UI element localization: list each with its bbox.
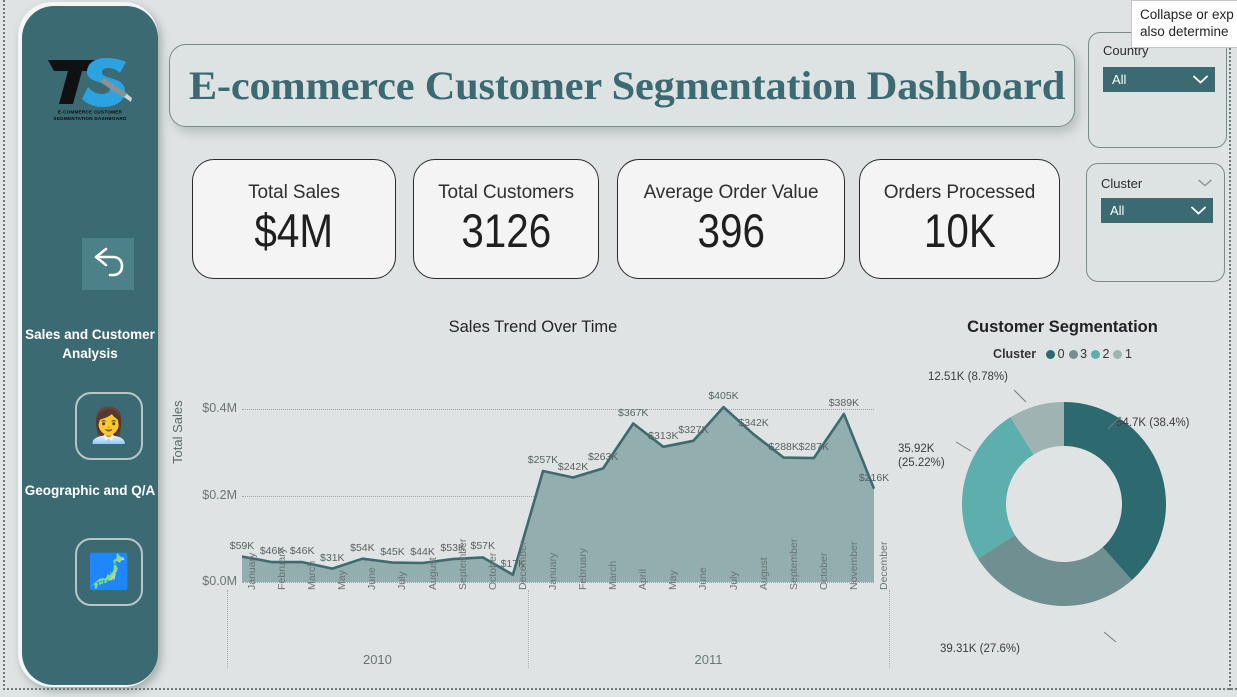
x-axis-tick: July	[396, 571, 408, 590]
chevron-down-icon[interactable]	[1198, 174, 1212, 192]
x-axis-tick: October	[487, 553, 499, 590]
slicer-header: Cluster	[1101, 174, 1212, 192]
tooltip-popup: Collapse or exp also determine	[1131, 0, 1237, 48]
slicer-title: Cluster	[1101, 176, 1142, 191]
data-label: $59K	[230, 540, 255, 552]
back-arrow-icon	[91, 246, 125, 283]
legend-color-swatch	[1069, 350, 1078, 359]
sidebar-item-sales-and-customer-analysis[interactable]: 👩‍💼	[75, 392, 143, 460]
data-label: $257K	[528, 454, 558, 466]
kpi-value: 396	[697, 206, 764, 255]
page-border-right	[1229, 0, 1231, 690]
page-border-left	[3, 0, 5, 690]
logo-subtitle: E-COMMERCE CUSTOMER SEGMENTATION DASHBOA…	[23, 109, 158, 123]
kpi-label: Total Customers	[438, 182, 574, 204]
kpi-value: 3126	[461, 206, 551, 255]
chart-title-customer-segmentation: Customer Segmentation	[896, 318, 1229, 337]
donut-data-label-cluster-3: 39.31K (27.6%)	[940, 642, 1020, 656]
donut-data-label-cluster-0: 54.7K (38.4%)	[1116, 416, 1190, 430]
sidebar-item-geographic-and-qa[interactable]: 🗾	[75, 538, 143, 606]
kpi-card-total-sales[interactable]: Total Sales $4M	[192, 159, 396, 279]
kpi-card-total-customers[interactable]: Total Customers 3126	[413, 159, 599, 279]
app-logo: E-COMMERCE CUSTOMER SEGMENTATION DASHBOA…	[22, 54, 158, 121]
dashboard-page: E-COMMERCE CUSTOMER SEGMENTATION DASHBOA…	[0, 0, 1237, 697]
country-selected-value: All	[1112, 72, 1126, 87]
x-axis-tick: December	[878, 542, 890, 590]
x-axis-tick: June	[366, 567, 378, 590]
axis-separator	[889, 590, 890, 668]
tooltip-line-1: Collapse or exp	[1140, 6, 1237, 23]
data-label: $288K	[769, 441, 799, 453]
legend-color-swatch	[1113, 350, 1122, 359]
data-label: $405K	[708, 390, 738, 402]
x-axis-tick: November	[848, 542, 860, 590]
logo-subtitle-line1: E-COMMERCE CUSTOMER	[23, 109, 158, 116]
donut-legend: Cluster 0321	[896, 347, 1229, 361]
chart-title-sales-trend: Sales Trend Over Time	[176, 318, 890, 337]
kpi-label: Orders Processed	[884, 182, 1036, 204]
x-axis-tick: August	[427, 557, 439, 590]
legend-item-cluster-3[interactable]: 3	[1069, 347, 1087, 361]
slicer-country: Country All	[1088, 32, 1227, 148]
legend-item-cluster-2[interactable]: 2	[1091, 347, 1109, 361]
data-label: $263K	[588, 451, 618, 463]
customer-segmentation-chart[interactable]: Customer Segmentation Cluster 0321 54.7K…	[896, 312, 1229, 684]
legend-color-swatch	[1046, 350, 1055, 359]
x-axis-tick: June	[697, 567, 709, 590]
x-axis-year-label: 2011	[694, 652, 722, 667]
legend-label: 1	[1125, 347, 1132, 361]
axis-separator	[528, 590, 529, 668]
sidebar-item-label-geographic: Geographic and Q/A	[22, 482, 158, 501]
country-dropdown[interactable]: All	[1103, 67, 1215, 92]
cluster-dropdown[interactable]: All	[1101, 198, 1213, 223]
axis-separator	[227, 590, 228, 668]
back-button[interactable]	[82, 238, 134, 290]
x-axis-tick: July	[728, 571, 740, 590]
donut-data-label-cluster-1: 12.51K (8.78%)	[928, 370, 1008, 384]
kpi-label: Average Order Value	[644, 182, 819, 204]
legend-item-cluster-0[interactable]: 0	[1046, 347, 1064, 361]
page-title: E-commerce Customer Segmentation Dashboa…	[153, 62, 1101, 109]
chevron-down-icon	[1193, 71, 1208, 89]
kpi-value: $4M	[255, 206, 334, 255]
x-axis-tick: April	[637, 569, 649, 590]
data-label: $46K	[290, 545, 315, 557]
y-axis-tick: $0.4M	[181, 401, 237, 415]
dashboard-title-card: E-commerce Customer Segmentation Dashboa…	[169, 44, 1075, 127]
legend-color-swatch	[1091, 350, 1100, 359]
sales-trend-chart[interactable]: Sales Trend Over Time Total Sales $0.0M$…	[176, 312, 890, 684]
x-axis-tick: January	[547, 553, 559, 590]
people-at-counter-icon: 👩‍💼	[88, 409, 130, 443]
chevron-down-icon	[1191, 202, 1206, 220]
x-axis-tick: October	[818, 553, 830, 590]
y-axis-tick: $0.0M	[181, 574, 237, 588]
data-label: $313K	[648, 430, 678, 442]
data-label: $327K	[678, 424, 708, 436]
sidebar-nav-panel: E-COMMERCE CUSTOMER SEGMENTATION DASHBOA…	[22, 6, 158, 685]
data-label: $45K	[380, 546, 405, 558]
x-axis-tick: March	[607, 561, 619, 590]
data-label: $287K	[799, 441, 829, 453]
x-axis-tick: December	[517, 542, 529, 590]
sidebar-item-label-sales: Sales and Customer Analysis	[22, 326, 158, 363]
x-axis-tick: September	[457, 539, 469, 590]
kpi-card-average-order-value[interactable]: Average Order Value 396	[617, 159, 845, 279]
kpi-card-orders-processed[interactable]: Orders Processed 10K	[859, 159, 1060, 279]
legend-item-cluster-1[interactable]: 1	[1113, 347, 1131, 361]
data-label: $216K	[859, 472, 889, 484]
data-label: $31K	[320, 552, 345, 564]
data-label: $242K	[558, 461, 588, 473]
kpi-card-row: Total Sales $4M Total Customers 3126 Ave…	[192, 159, 1068, 279]
x-axis-tick: May	[336, 570, 348, 590]
legend-title: Cluster	[993, 347, 1036, 361]
data-label: $54K	[350, 542, 375, 554]
y-axis-tick: $0.2M	[181, 488, 237, 502]
logo-subtitle-line2: SEGMENTATION DASHBOARD	[23, 116, 158, 123]
data-label: $389K	[829, 397, 859, 409]
x-axis-tick: September	[788, 539, 800, 590]
cluster-selected-value: All	[1110, 203, 1124, 218]
x-axis-tick: January	[246, 553, 258, 590]
x-axis-year-label: 2010	[363, 652, 392, 667]
x-axis-tick: March	[306, 561, 318, 590]
x-axis-tick: February	[577, 548, 589, 590]
x-axis-tick: May	[667, 570, 679, 590]
legend-label: 3	[1080, 347, 1087, 361]
kpi-value: 10K	[924, 206, 996, 255]
tooltip-line-2: also determine	[1140, 23, 1237, 40]
donut-slice-cluster-2[interactable]	[962, 417, 1034, 559]
x-axis-tick: August	[758, 557, 770, 590]
x-axis-tick: February	[276, 548, 288, 590]
data-label: $367K	[618, 407, 648, 419]
slicer-cluster: Cluster All	[1086, 163, 1225, 282]
donut-data-label-cluster-2: 35.92K(25.22%)	[898, 442, 945, 470]
logo-ts-mark	[42, 54, 138, 110]
map-pin-icon: 🗾	[88, 555, 130, 589]
page-border-bottom	[3, 688, 1237, 690]
data-label: $57K	[470, 540, 495, 552]
data-label: $342K	[738, 417, 768, 429]
legend-label: 2	[1103, 347, 1110, 361]
kpi-label: Total Sales	[248, 182, 340, 204]
legend-label: 0	[1058, 347, 1065, 361]
